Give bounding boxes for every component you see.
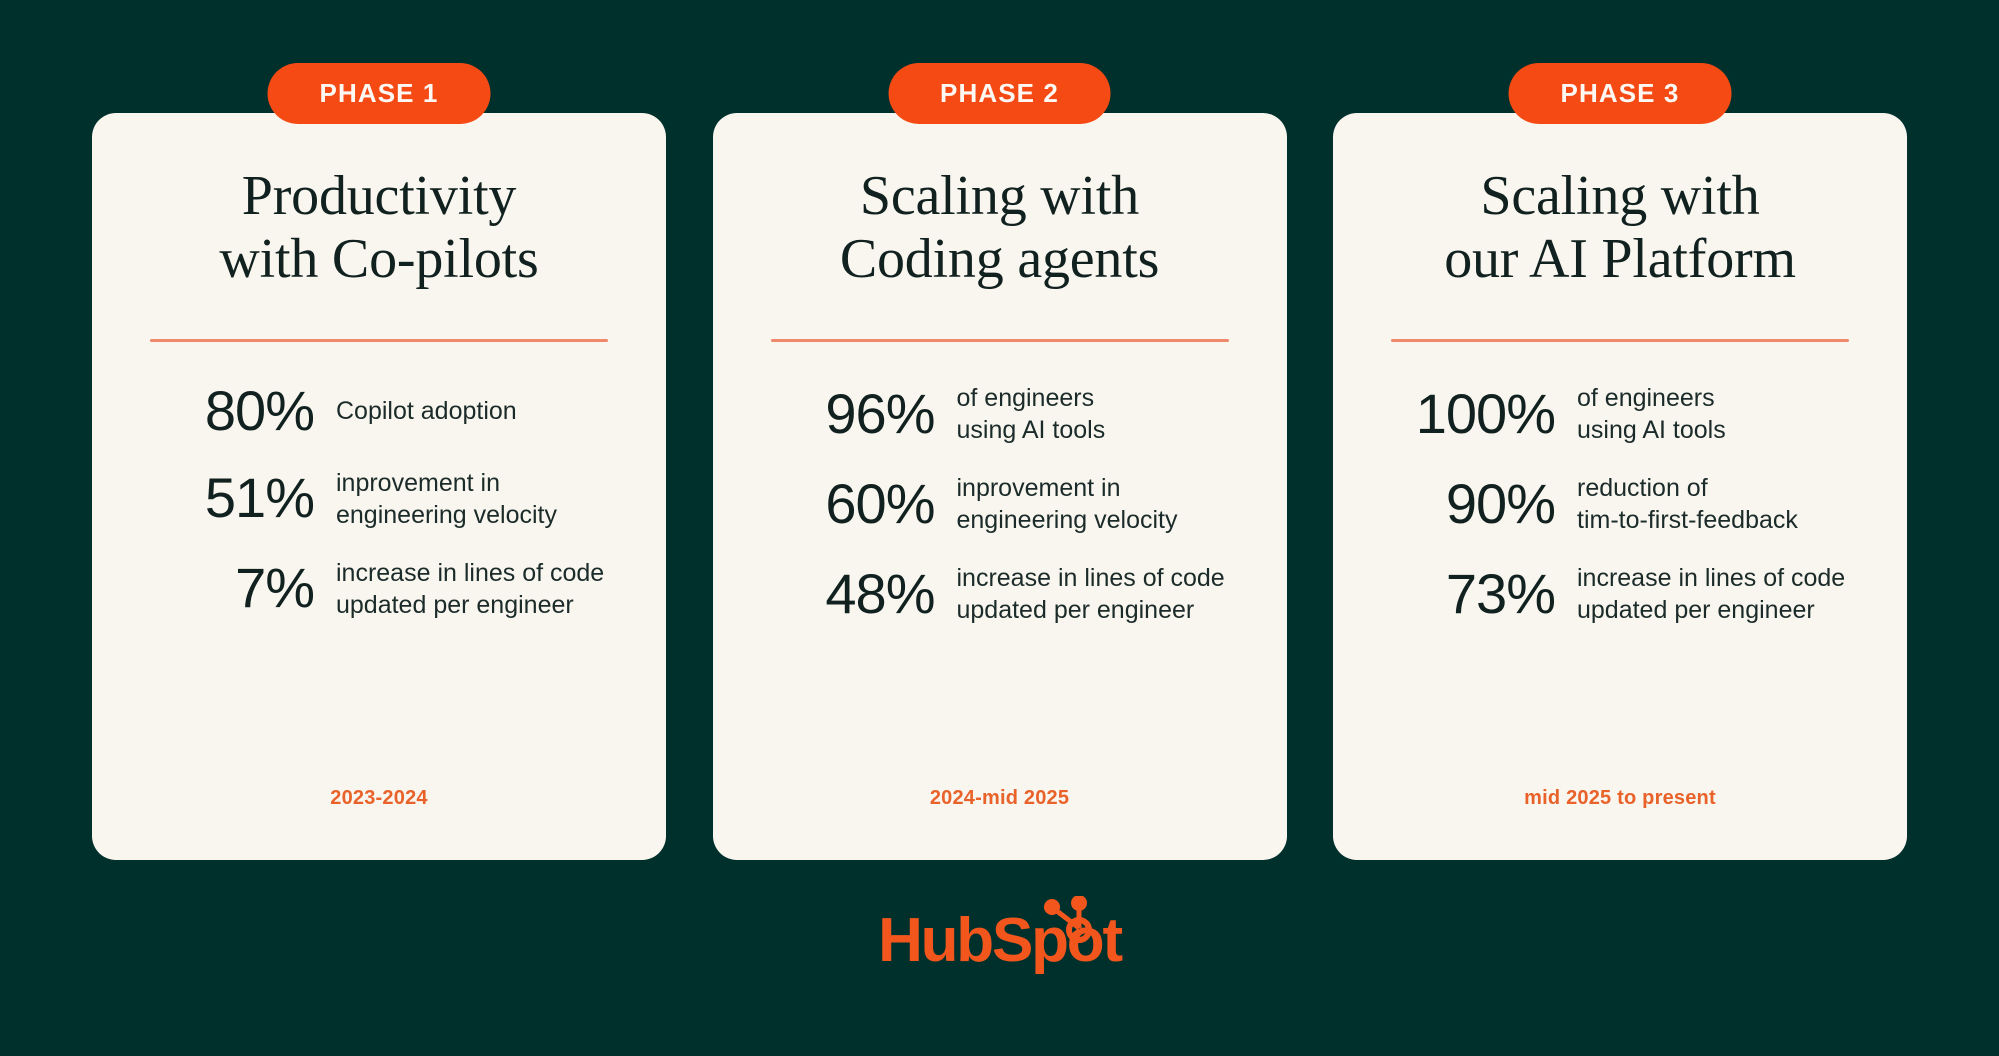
stat-row: 73% increase in lines of code updated pe… — [1387, 562, 1861, 626]
card-title-line-1: Productivity — [242, 165, 516, 227]
phase-badge-2[interactable]: PHASE 2 — [888, 63, 1111, 124]
stat-value: 73% — [1387, 565, 1555, 624]
stat-row: 51% inprovement in engineering velocity — [146, 467, 620, 531]
brand-footer: HubSpot — [0, 910, 1999, 972]
card-title-line-2: Coding agents — [840, 228, 1159, 290]
stat-value: 90% — [1387, 475, 1555, 534]
card-title-line-1: Scaling with — [1480, 165, 1759, 227]
card-title-3: Scaling with our AI Platform — [1379, 165, 1861, 305]
card-title-2: Scaling with Coding agents — [759, 165, 1241, 305]
stat-label: increase in lines of code updated per en… — [336, 557, 604, 621]
stat-row: 96% of engineers using AI tools — [767, 382, 1241, 446]
stat-row: 80% Copilot adoption — [146, 382, 620, 441]
stat-row: 48% increase in lines of code updated pe… — [767, 562, 1241, 626]
phase-card-1: PHASE 1 Productivity with Co-pilots 80% … — [92, 113, 666, 860]
stat-row: 7% increase in lines of code updated per… — [146, 557, 620, 621]
card-divider-2 — [771, 339, 1229, 342]
phase-cards-row: PHASE 1 Productivity with Co-pilots 80% … — [92, 113, 1907, 860]
card-title-1: Productivity with Co-pilots — [138, 165, 620, 305]
stat-label: of engineers using AI tools — [957, 382, 1106, 446]
card-divider-1 — [150, 339, 608, 342]
stat-value: 48% — [767, 565, 935, 624]
stat-label: Copilot adoption — [336, 395, 517, 427]
infographic-board: PHASE 1 Productivity with Co-pilots 80% … — [0, 0, 1999, 1056]
stat-value: 100% — [1387, 385, 1555, 444]
stat-row: 100% of engineers using AI tools — [1387, 382, 1861, 446]
hubspot-logo: HubSpot — [878, 910, 1121, 972]
stat-list-3: 100% of engineers using AI tools 90% red… — [1379, 382, 1861, 626]
card-divider-3 — [1391, 339, 1849, 342]
stat-label: increase in lines of code updated per en… — [957, 562, 1225, 626]
stat-row: 90% reduction of tim-to-first-feedback — [1387, 472, 1861, 536]
card-content-2: Scaling with Coding agents 96% of engine… — [713, 113, 1287, 860]
stat-value: 96% — [767, 385, 935, 444]
phase-badge-3[interactable]: PHASE 3 — [1509, 63, 1732, 124]
stat-label: inprovement in engineering velocity — [336, 467, 557, 531]
phase-card-3: PHASE 3 Scaling with our AI Platform 100… — [1333, 113, 1907, 860]
card-date-3: mid 2025 to present — [1379, 787, 1861, 830]
card-title-line-2: our AI Platform — [1444, 228, 1796, 290]
stat-list-1: 80% Copilot adoption 51% inprovement in … — [138, 382, 620, 621]
phase-badge-1[interactable]: PHASE 1 — [268, 63, 491, 124]
stat-label: of engineers using AI tools — [1577, 382, 1726, 446]
card-title-line-1: Scaling with — [860, 165, 1139, 227]
stat-value: 60% — [767, 475, 935, 534]
card-date-2: 2024-mid 2025 — [759, 787, 1241, 830]
stat-row: 60% inprovement in engineering velocity — [767, 472, 1241, 536]
stat-value: 51% — [146, 469, 314, 528]
card-title-line-2: with Co-pilots — [219, 228, 538, 290]
card-date-1: 2023-2024 — [138, 787, 620, 830]
stat-value: 80% — [146, 382, 314, 441]
stat-label: inprovement in engineering velocity — [957, 472, 1178, 536]
stat-label: reduction of tim-to-first-feedback — [1577, 472, 1798, 536]
phase-card-2: PHASE 2 Scaling with Coding agents 96% o… — [713, 113, 1287, 860]
card-content-1: Productivity with Co-pilots 80% Copilot … — [92, 113, 666, 860]
stat-list-2: 96% of engineers using AI tools 60% inpr… — [759, 382, 1241, 626]
card-content-3: Scaling with our AI Platform 100% of eng… — [1333, 113, 1907, 860]
stat-label: increase in lines of code updated per en… — [1577, 562, 1845, 626]
stat-value: 7% — [146, 559, 314, 618]
hubspot-sprocket-icon — [1039, 896, 1095, 948]
